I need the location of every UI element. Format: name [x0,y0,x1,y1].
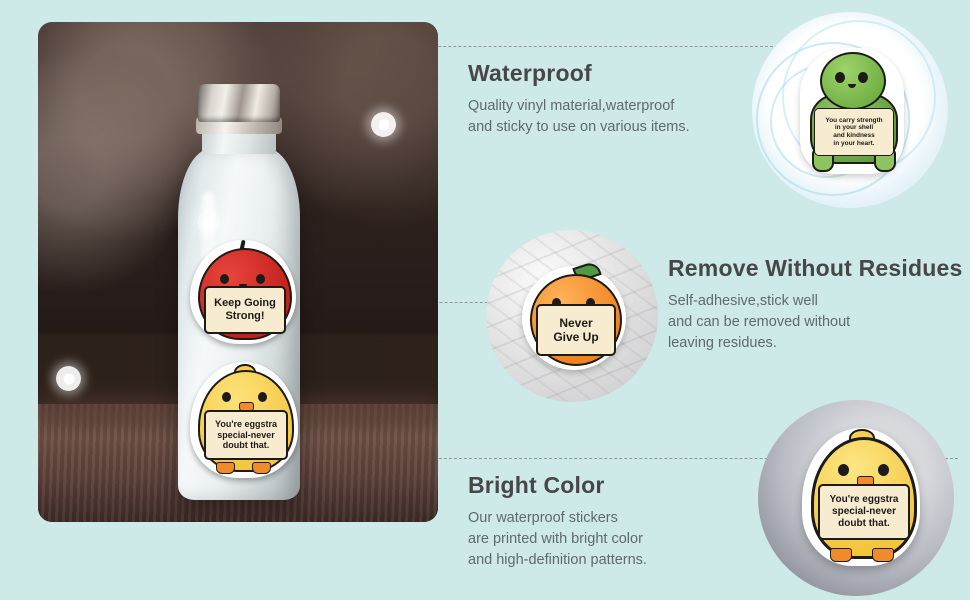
smile-icon [848,84,856,88]
feature-description-bright-color: Our waterproof stickers are printed with… [468,508,768,571]
eye-right [878,464,889,476]
bottle-neck [202,132,276,154]
turtle-head [820,52,886,110]
turtle-sticker: You carry strength in your shell and kin… [800,48,904,174]
chick-sign: You're eggstra special-never doubt that. [204,410,288,460]
foot-left-icon [830,548,852,562]
turtle-sign-line4: in your heart. [833,140,874,148]
turtle-sign: You carry strength in your shell and kin… [814,108,894,156]
chick-sticker: You're eggstra special-never doubt that. [190,362,298,480]
chick-large-sign-line3: doubt that. [838,518,890,530]
apple-sign: Keep Going Strong! [204,286,286,334]
apple-sign-line2: Strong! [225,310,264,323]
hotspot-dot-middle[interactable] [197,211,220,234]
chick-large-sign-line1: You're eggstra [830,494,899,506]
hotspot-dot-left[interactable] [56,366,81,391]
gray-circle: You're eggstra special-never doubt that. [758,400,954,596]
chick-sign-line2: special-never [217,430,275,441]
feature-block-waterproof: Waterproof Quality vinyl material,waterp… [468,60,758,138]
orange-sign: Never Give Up [536,304,616,356]
foot-right-icon [872,548,894,562]
feature-title-remove-without-residues: Remove Without Residues [668,255,968,282]
orange-sign-line1: Never [559,316,592,330]
eye-right [256,274,265,284]
feature-title-waterproof: Waterproof [468,60,758,87]
hotspot-dot-top[interactable] [371,112,396,137]
eye-right [258,392,267,402]
marble-circle: Never Give Up [486,230,658,402]
eye-left [220,274,229,284]
eye-left [222,392,231,402]
foot-left-icon [216,462,235,474]
water-splash-circle: You carry strength in your shell and kin… [752,12,948,208]
feature-description-remove-without-residues: Self-adhesive,stick well and can be remo… [668,291,968,354]
chick-large-sign: You're eggstra special-never doubt that. [818,484,910,540]
foot-right-icon [252,462,271,474]
eye-left [835,72,845,83]
chick-sticker-large: You're eggstra special-never doubt that. [802,428,920,568]
turtle-sign-line1: You carry strength [825,117,882,125]
turtle-sign-line2: in your shell [835,124,873,132]
apple-sticker: Keep Going Strong! [190,236,296,348]
chick-large-sign-line2: special-never [832,506,896,518]
product-photo-bottle: Keep Going Strong! You're eggstra specia… [38,22,438,522]
infographic-stage: Keep Going Strong! You're eggstra specia… [0,0,970,600]
bottle-cap [198,84,280,122]
feature-block-bright-color: Bright Color Our waterproof stickers are… [468,472,768,571]
apple-sign-line1: Keep Going [214,297,276,310]
chick-sign-line3: doubt that. [223,440,270,451]
eye-left [838,464,849,476]
feature-description-waterproof: Quality vinyl material,waterproof and st… [468,96,758,138]
turtle-sign-line3: and kindness [833,132,875,140]
connector-line-top [383,46,773,47]
eye-right [858,72,868,83]
chick-sign-line1: You're eggstra [215,419,277,430]
feature-title-bright-color: Bright Color [468,472,768,499]
orange-sticker: Never Give Up [522,260,626,372]
feature-block-remove-without-residues: Remove Without Residues Self-adhesive,st… [668,255,968,354]
orange-sign-line2: Give Up [553,330,598,344]
